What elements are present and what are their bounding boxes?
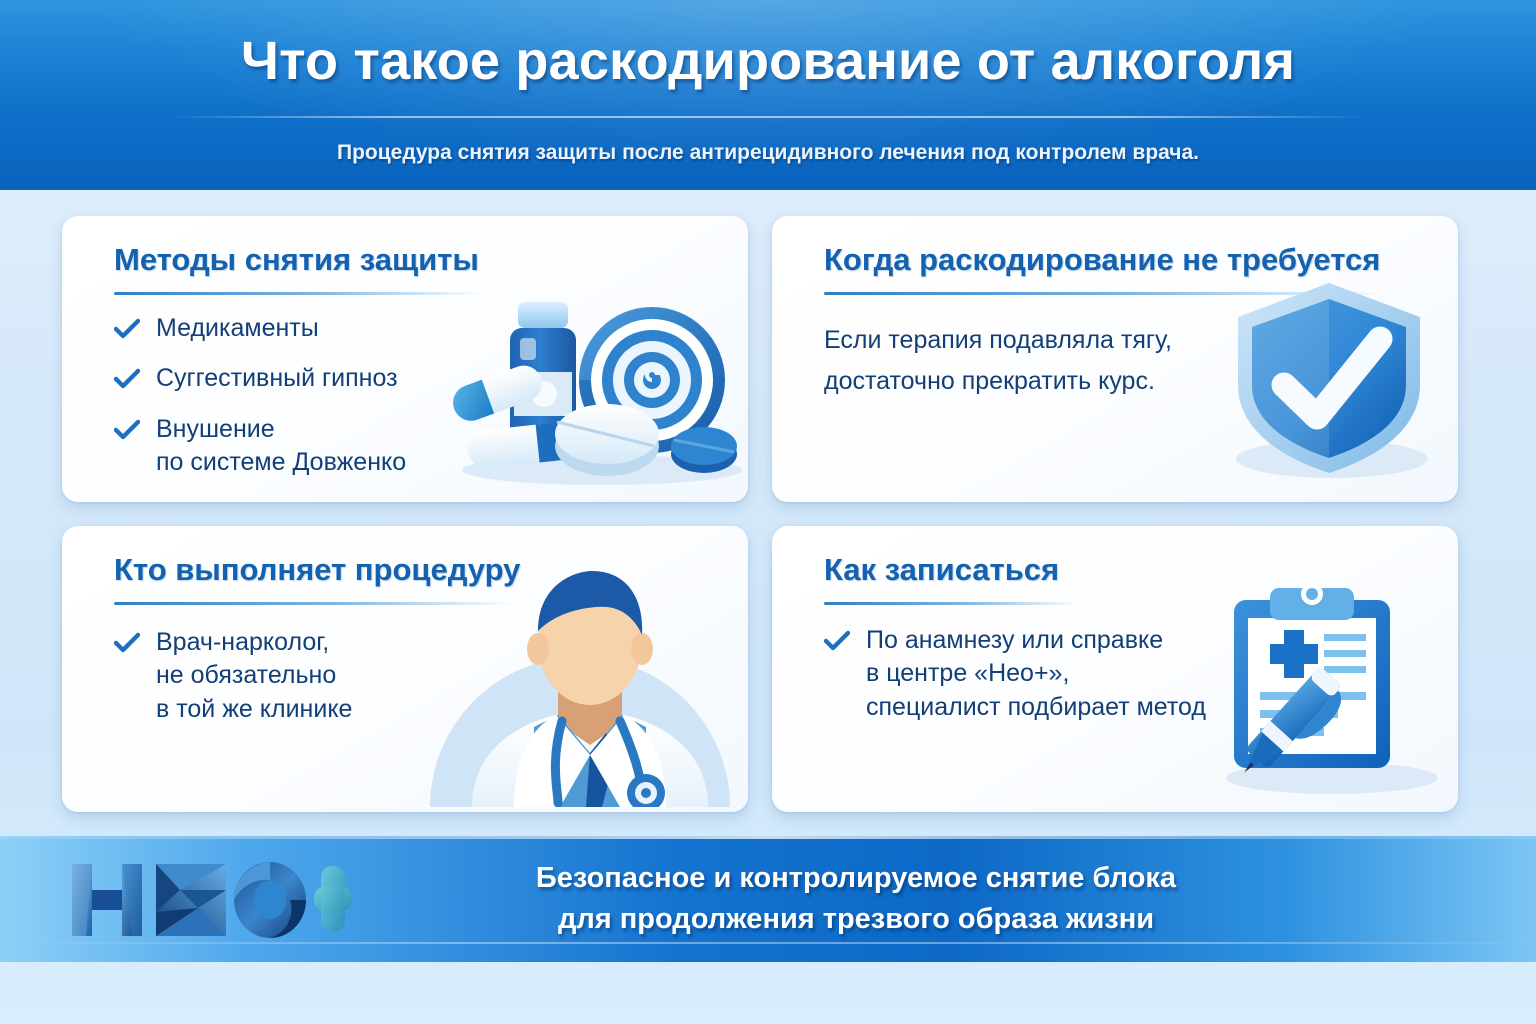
footer-tagline: Безопасное и контролируемое снятие блока… (356, 858, 1356, 940)
check-icon (114, 417, 140, 439)
card-how-to-book-underline (824, 602, 1079, 605)
card-methods-title: Методы снятия защиты (114, 242, 479, 278)
logo-letter-o (234, 862, 306, 938)
pills-spiral-illustration (442, 274, 742, 494)
check-icon (114, 630, 140, 652)
header-divider (168, 116, 1368, 118)
check-icon (114, 316, 140, 338)
card-how-to-book-title: Как записаться (824, 552, 1059, 588)
shield-check-illustration (1224, 277, 1434, 488)
list-item-label: Внушение (156, 415, 275, 443)
list-item-label: Медикаменты (156, 314, 319, 342)
header-banner: Что такое раскодирование от алкоголя Про… (0, 0, 1536, 190)
card-when-not-needed: Когда раскодирование не требуется Если т… (772, 216, 1458, 502)
logo-letter-n (72, 864, 142, 936)
card-methods: Методы снятия защиты Медикаменты Суггест… (62, 216, 748, 502)
card-when-not-needed-title: Когда раскодирование не требуется (824, 242, 1380, 278)
infographic-poster: Что такое раскодирование от алкоголя Про… (0, 0, 1536, 1024)
logo-letter-e (156, 864, 226, 936)
check-icon (114, 366, 140, 388)
doctor-illustration (410, 557, 740, 812)
footer-tagline-line-1: Безопасное и контролируемое снятие блока (356, 858, 1356, 899)
list-item-line-1: По анамнезу или справке (866, 626, 1163, 654)
page-title: Что такое раскодирование от алкоголя (0, 30, 1536, 92)
list-item-label: Суггестивный гипноз (156, 364, 398, 392)
list-item-line-1: Врач-нарколог, (156, 628, 329, 656)
card-methods-underline (114, 292, 482, 295)
logo-plus-icon (314, 866, 352, 932)
check-icon (824, 628, 850, 650)
card-how-to-book: Как записаться По анамнезу или справке в… (772, 526, 1458, 812)
card-who-performs: Кто выполняет процедуру Врач-нарколог, н… (62, 526, 748, 812)
footer-tagline-line-2: для продолжения трезвого образа жизни (356, 899, 1356, 940)
page-subtitle: Процедура снятия защиты после антирециди… (0, 141, 1536, 165)
cards-grid: Методы снятия защиты Медикаменты Суггест… (62, 216, 1474, 812)
card-when-not-needed-text: Если терапия подавляла тягу, достаточно … (824, 320, 1254, 401)
neo-plus-logo (66, 856, 352, 944)
footer-banner: Безопасное и контролируемое снятие блока… (0, 836, 1536, 962)
clipboard-pen-illustration (1212, 582, 1442, 802)
